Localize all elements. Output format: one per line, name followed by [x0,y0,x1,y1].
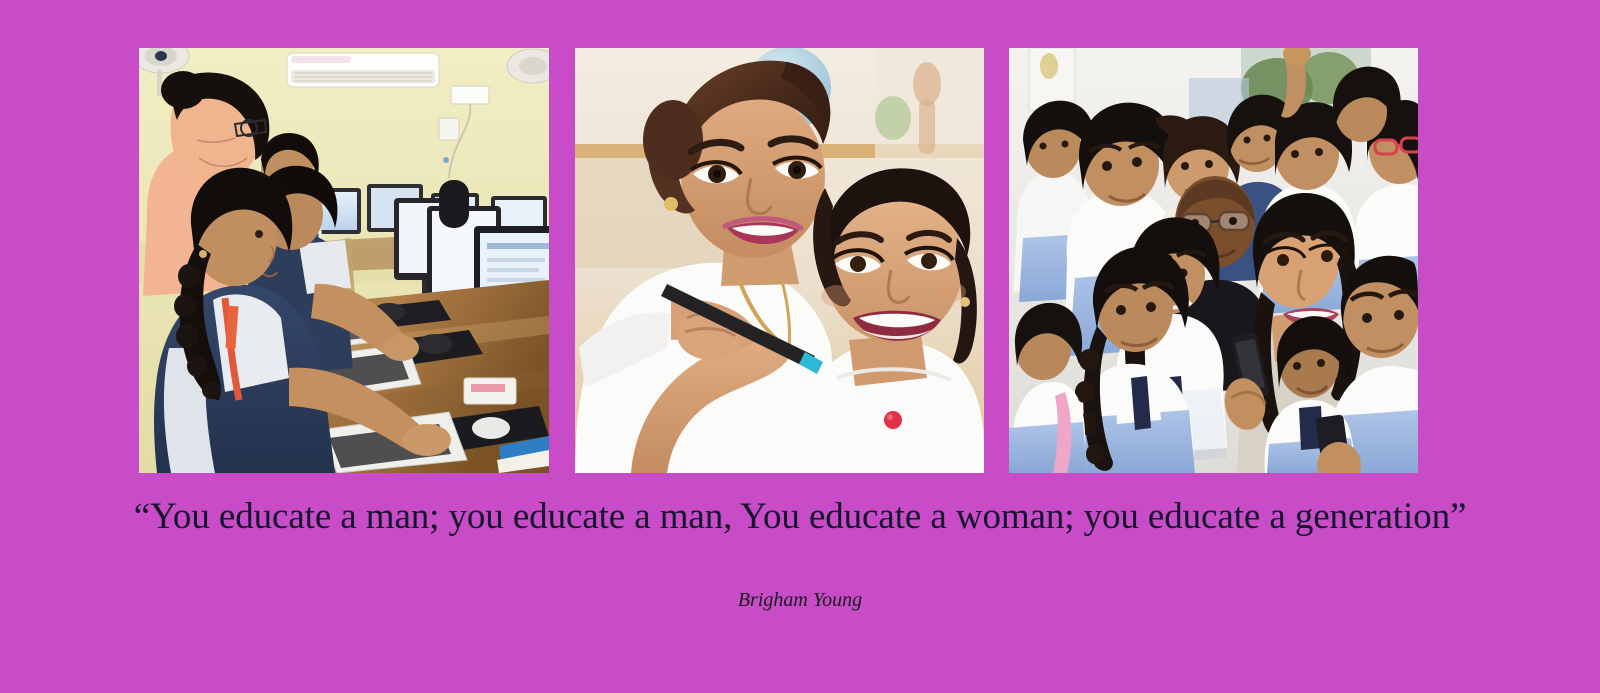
photo-computer-lab-girls [139,48,549,473]
slide-canvas: “You educate a man; you educate a man, Y… [0,0,1600,693]
air-conditioner [287,53,439,87]
photo-gallery [139,48,1418,473]
computer-lab-illustration [139,48,549,473]
school-group-illustration [1009,48,1418,473]
photo-school-group [1009,48,1418,473]
photo-mother-and-daughter [575,48,984,473]
quote-text: “You educate a man; you educate a man, Y… [0,493,1600,541]
mother-daughter-illustration [575,48,984,473]
quote-author: Brigham Young [0,586,1600,614]
